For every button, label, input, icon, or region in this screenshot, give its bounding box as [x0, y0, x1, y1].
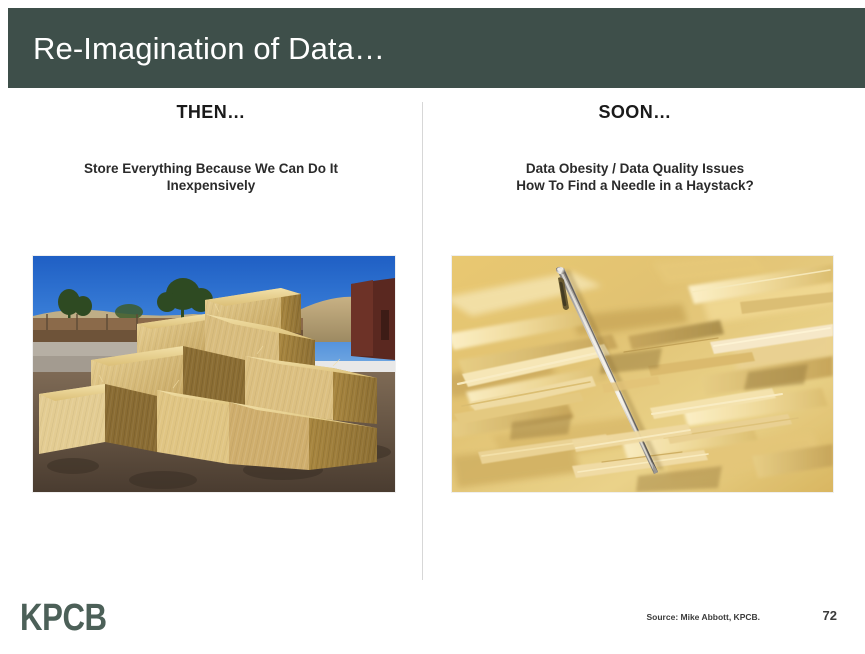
column-soon-heading: SOON…	[440, 100, 830, 124]
source-note: Source: Mike Abbott, KPCB.	[647, 612, 761, 622]
column-then-body: Store Everything Because We Can Do It In…	[16, 160, 406, 194]
column-then: THEN… Store Everything Because We Can Do…	[16, 100, 406, 194]
slide-canvas: Re-Imagination of Data… THEN… Store Ever…	[0, 0, 865, 654]
slide-title-bar: Re-Imagination of Data…	[8, 8, 865, 88]
column-then-heading: THEN…	[16, 100, 406, 124]
column-soon-body-line-2: How To Find a Needle in a Haystack?	[440, 177, 830, 194]
hay-bales-illustration	[33, 256, 395, 492]
column-soon: SOON… Data Obesity / Data Quality Issues…	[440, 100, 830, 194]
page-title: Re-Imagination of Data…	[33, 29, 385, 69]
hay-bales-photo	[33, 256, 395, 492]
page-number: 72	[823, 608, 837, 623]
column-then-body-line-2: Inexpensively	[16, 177, 406, 194]
needle-in-haystack-photo	[452, 256, 833, 492]
kpcb-logo: KPCB	[20, 598, 107, 638]
column-divider	[422, 102, 423, 580]
column-soon-body-line-1: Data Obesity / Data Quality Issues	[440, 160, 830, 177]
column-then-body-line-1: Store Everything Because We Can Do It	[16, 160, 406, 177]
needle-in-haystack-illustration	[452, 256, 833, 492]
column-soon-body: Data Obesity / Data Quality Issues How T…	[440, 160, 830, 194]
